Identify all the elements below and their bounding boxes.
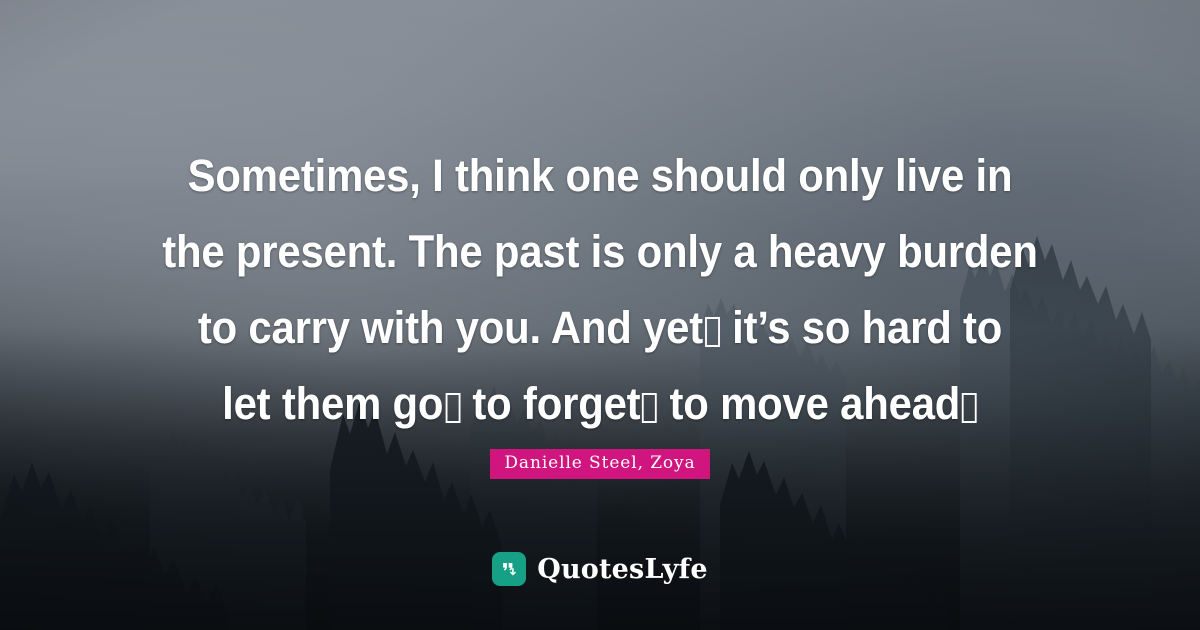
card-content: Sometimes, I think one should only live … <box>0 0 1200 630</box>
missing-glyph-box-icon <box>705 317 720 347</box>
attribution-badge: Danielle Steel, Zoya <box>490 449 709 479</box>
missing-glyph-box-icon <box>962 393 977 423</box>
quote-line-1: Sometimes, I think one should only live … <box>144 138 1055 214</box>
quote-mark-icon <box>492 552 526 586</box>
quote-line-4-text-a: let them go <box>222 378 443 429</box>
quote-card: Sometimes, I think one should only live … <box>0 0 1200 630</box>
quote-line-4: let them go to forget to move ahead <box>144 366 1055 442</box>
attribution-wrapper: Danielle Steel, Zoya <box>0 449 1200 479</box>
quote-text: Sometimes, I think one should only live … <box>0 138 1200 442</box>
quote-line-4-text-b: to forget <box>461 378 640 429</box>
quote-line-2-text: the present. The past is only a heavy bu… <box>162 226 1038 277</box>
quote-line-3-text-b: it’s so hard to <box>721 302 1002 353</box>
quote-line-3-text-a: to carry with you. And yet <box>198 302 703 353</box>
quote-line-1-text: Sometimes, I think one should only live … <box>188 150 1013 201</box>
brand-logo: QuotesLyfe <box>0 552 1200 586</box>
quote-line-2: the present. The past is only a heavy bu… <box>144 214 1055 290</box>
brand-name: QuotesLyfe <box>537 554 708 585</box>
missing-glyph-box-icon <box>642 393 657 423</box>
quote-line-4-text-c: to move ahead <box>658 378 960 429</box>
quote-line-3: to carry with you. And yet it’s so hard … <box>144 290 1055 366</box>
missing-glyph-box-icon <box>445 393 460 423</box>
